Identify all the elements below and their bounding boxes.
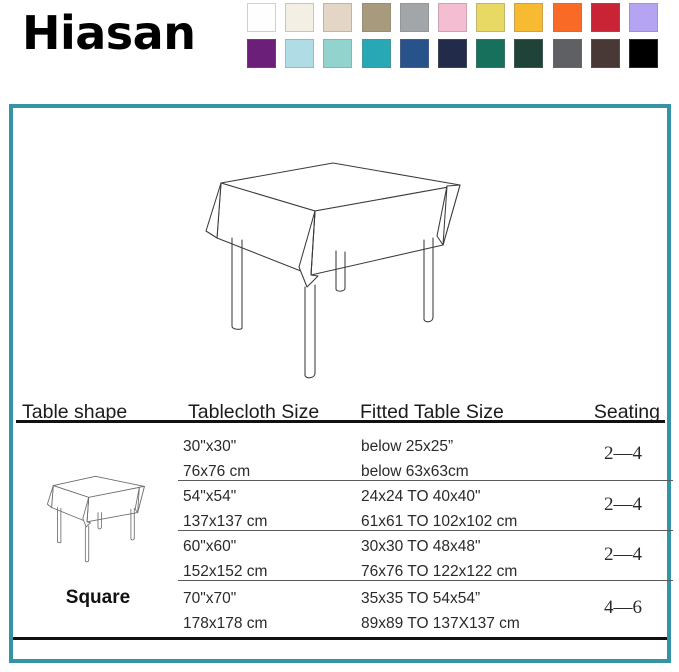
fitted-size-inches: 35x35 TO 54x54” [361,586,520,611]
fitted-size-inches: 30x30 TO 48x48" [361,534,517,559]
header-divider [16,420,665,423]
cell-tablecloth-size: 54"x54"137x137 cm [183,484,267,534]
row-divider [178,530,673,531]
row-divider [178,480,673,481]
color-swatch-navy[interactable] [438,39,467,68]
cell-seating: 2—4 [604,544,642,566]
tablecloth-size-inches: 30"x30" [183,434,250,459]
cell-fitted-table-size: below 25x25”below 63x63cm [361,434,469,484]
color-swatch-lavender[interactable] [629,3,658,32]
color-swatch-charcoal-grey[interactable] [553,39,582,68]
color-swatch-teal[interactable] [362,39,391,68]
cell-seating: 4—6 [604,597,642,619]
row-divider [178,580,673,581]
brand-logo: Hiasan [22,8,195,58]
swatch-row-dark [247,39,672,68]
color-swatch-black[interactable] [629,39,658,68]
color-swatch-red[interactable] [591,3,620,32]
square-table-with-tablecloth-icon [175,141,505,391]
tablecloth-size-inches: 70"x70" [183,586,267,611]
color-swatch-beige[interactable] [323,3,352,32]
color-swatch-khaki[interactable] [362,3,391,32]
table-header-row: Table shape Tablecloth Size Fitted Table… [18,390,662,424]
tablecloth-size-cm: 178x178 cm [183,611,267,636]
tablecloth-size-inches: 60"x60" [183,534,267,559]
fitted-size-inches: below 25x25” [361,434,469,459]
color-swatch-ivory[interactable] [285,3,314,32]
table-row: 54"x54"137x137 cm24x24 TO 40x40"61x61 TO… [13,480,667,530]
cell-tablecloth-size: 60"x60"152x152 cm [183,534,267,584]
color-swatch-forest-green[interactable] [514,39,543,68]
color-swatch-dark-brown[interactable] [591,39,620,68]
fitted-size-inches: 24x24 TO 40x40" [361,484,517,509]
fitted-size-cm: 89x89 TO 137X137 cm [361,611,520,636]
cell-seating: 2—4 [604,494,642,516]
color-swatch-pink[interactable] [438,3,467,32]
color-swatch-denim-blue[interactable] [400,39,429,68]
table-row: 30"x30"76x76 cmbelow 25x25”below 63x63cm… [13,428,667,480]
color-swatch-white[interactable] [247,3,276,32]
cell-fitted-table-size: 35x35 TO 54x54”89x89 TO 137X137 cm [361,586,520,636]
cell-seating: 2—4 [604,443,642,465]
table-body: 30"x30"76x76 cmbelow 25x25”below 63x63cm… [13,428,667,658]
color-swatch-purple[interactable] [247,39,276,68]
table-row: 60"x60"152x152 cm30x30 TO 48x48"76x76 TO… [13,530,667,580]
swatch-row-light [247,3,672,32]
cell-fitted-table-size: 24x24 TO 40x40"61x61 TO 102x102 cm [361,484,517,534]
color-swatch-yellow[interactable] [476,3,505,32]
color-swatch-mint[interactable] [323,39,352,68]
cell-fitted-table-size: 30x30 TO 48x48"76x76 TO 122x122 cm [361,534,517,584]
square-table-illustration [13,132,667,400]
color-swatch-powder-blue[interactable] [285,39,314,68]
color-swatch-emerald[interactable] [476,39,505,68]
cell-tablecloth-size: 70"x70"178x178 cm [183,586,267,636]
table-row: 70"x70"178x178 cm35x35 TO 54x54”89x89 TO… [13,580,667,636]
color-swatch-gold[interactable] [514,3,543,32]
cell-tablecloth-size: 30"x30"76x76 cm [183,434,250,484]
tablecloth-size-inches: 54"x54" [183,484,267,509]
table-bottom-divider [13,637,667,640]
color-swatch-orange[interactable] [553,3,582,32]
color-swatch-panel [247,3,672,75]
color-swatch-grey[interactable] [400,3,429,32]
size-table: Table shape Tablecloth Size Fitted Table… [18,390,662,424]
brand-header: Hiasan [0,0,679,96]
size-guide-card: Table shape Tablecloth Size Fitted Table… [9,104,671,663]
